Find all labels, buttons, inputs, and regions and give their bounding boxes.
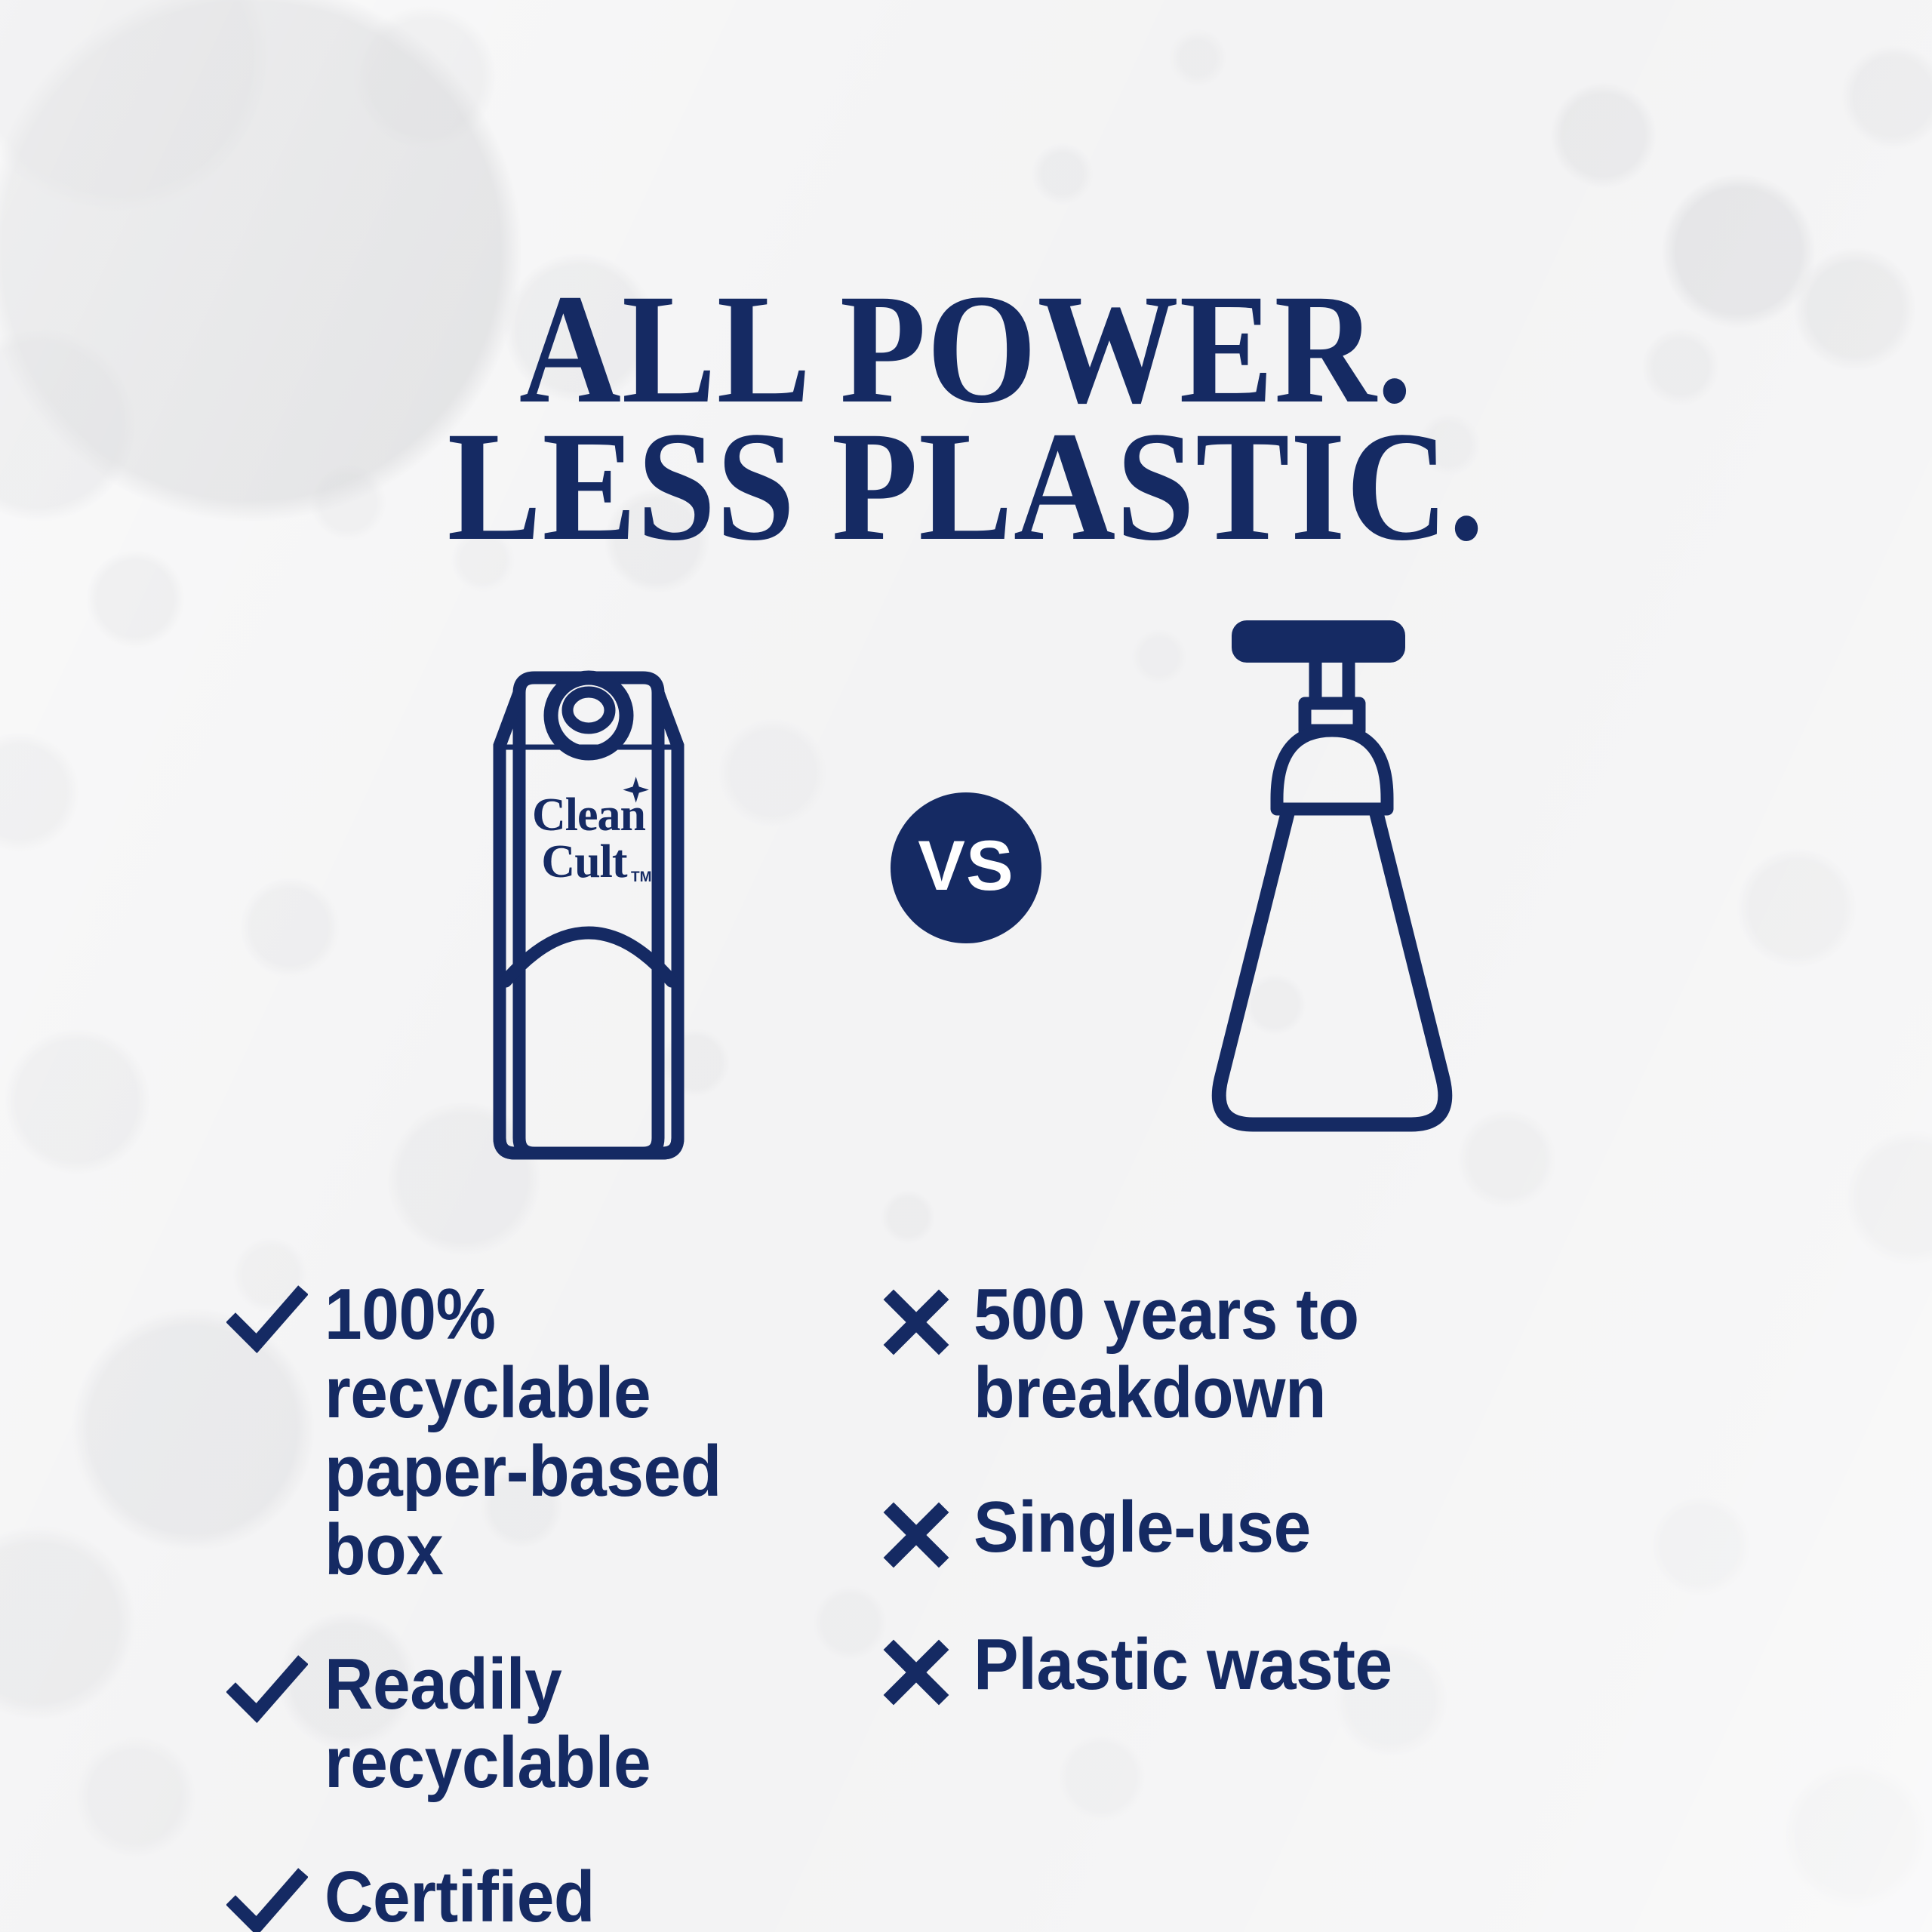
check-mark-icon bbox=[226, 1863, 308, 1932]
feature-label: Single-use bbox=[974, 1488, 1311, 1567]
feature-comparison-lists: 100% recyclable paper-based box Readily … bbox=[0, 1275, 1932, 1932]
product-comparison-row: Clean Cult TM VS bbox=[0, 604, 1932, 1177]
plastic-pump-bottle-illustration bbox=[1192, 604, 1479, 1177]
x-mark-icon bbox=[875, 1280, 957, 1361]
eco-feature-column: 100% recyclable paper-based box Readily … bbox=[0, 1275, 815, 1932]
vs-badge-label: VS bbox=[918, 830, 1014, 901]
clean-cult-logo: Clean Cult TM bbox=[532, 777, 651, 888]
feature-label: 500 years to breakdown bbox=[974, 1275, 1535, 1432]
vs-badge: VS bbox=[891, 792, 1041, 943]
feature-label: Plastic waste bbox=[974, 1626, 1392, 1704]
page-title: ALL POWER. LESS PLASTIC. bbox=[97, 280, 1835, 555]
feature-label: Readily recyclable bbox=[325, 1645, 781, 1802]
feature-item-single-use: Single-use bbox=[875, 1488, 1630, 1570]
infographic-canvas: ALL POWER. LESS PLASTIC. bbox=[0, 0, 1932, 1932]
pump-handle-bar bbox=[1232, 620, 1405, 663]
pump-dome-shoulder bbox=[1277, 731, 1387, 809]
feature-item-recyclable-box: 100% recyclable paper-based box bbox=[226, 1275, 815, 1589]
check-mark-icon bbox=[226, 1280, 308, 1361]
headline-line-1: ALL POWER. bbox=[97, 280, 1835, 417]
logo-text-clean: Clean bbox=[532, 789, 646, 841]
headline-line-2: LESS PLASTIC. bbox=[97, 417, 1835, 555]
feature-label: 100% recyclable paper-based box bbox=[325, 1275, 781, 1589]
check-mark-icon bbox=[226, 1650, 308, 1731]
logo-text-cult: Cult bbox=[541, 836, 627, 888]
feature-item-plastic-waste: Plastic waste bbox=[875, 1626, 1630, 1707]
feature-label: Certified Plastic Neutral bbox=[325, 1858, 781, 1932]
clean-cult-carton-illustration: Clean Cult TM bbox=[483, 604, 694, 1177]
x-mark-icon bbox=[875, 1493, 957, 1574]
trademark-mark: TM bbox=[631, 869, 651, 885]
feature-item-readily-recyclable: Readily recyclable bbox=[226, 1645, 815, 1802]
carton-label-arch bbox=[506, 933, 672, 981]
carton-cap-inner bbox=[568, 692, 610, 728]
feature-item-plastic-neutral: Certified Plastic Neutral bbox=[226, 1858, 815, 1932]
bottle-body-outline bbox=[1219, 814, 1445, 1124]
feature-item-500-years: 500 years to breakdown bbox=[875, 1275, 1630, 1432]
plastic-feature-column: 500 years to breakdown Single-use Plasti… bbox=[815, 1275, 1630, 1932]
x-mark-icon bbox=[875, 1630, 957, 1712]
